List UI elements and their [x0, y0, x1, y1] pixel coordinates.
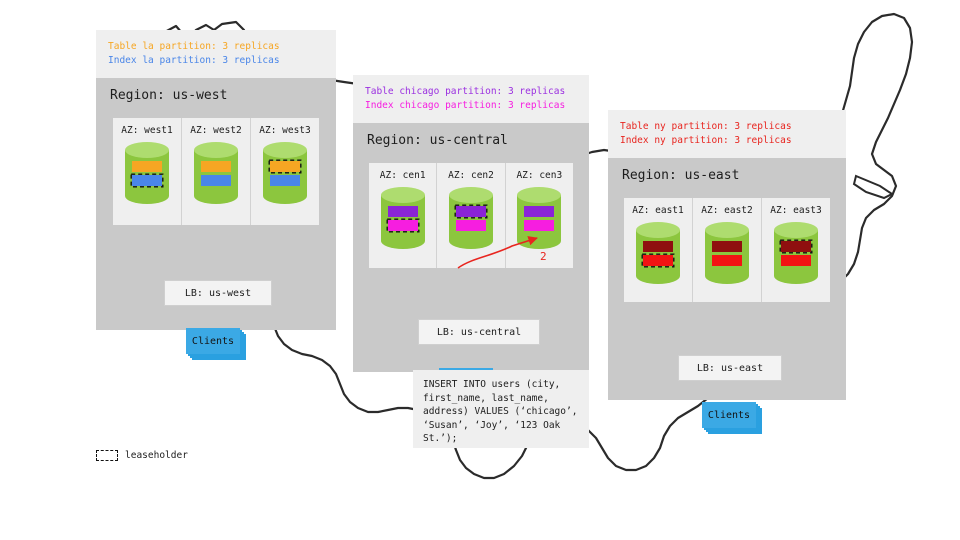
clients-label-us-west: Clients [186, 328, 240, 354]
region-title-us-central: Region: us-central [353, 123, 589, 148]
arrow-step-number-2: 2 [540, 250, 547, 263]
clients-label-us-east: Clients [702, 402, 756, 428]
sql-statement-text: INSERT INTO users (city, first_name, las… [423, 379, 577, 444]
az-cell-west3[interactable]: AZ: west3 [250, 118, 319, 225]
dashed-rectangle-icon [96, 450, 118, 461]
region-band-us-east: Region: us-east AZ: east1 [608, 158, 846, 400]
diagram-stage: Table la partition: 3 replicas Index la … [0, 0, 960, 540]
az-label-west1: AZ: west1 [121, 125, 172, 136]
leaseholder-legend: leaseholder [96, 450, 188, 461]
database-cylinder-east2[interactable] [702, 220, 752, 286]
database-cylinder-cen2[interactable] [446, 185, 496, 251]
sql-statement-box: INSERT INTO users (city, first_name, las… [413, 370, 589, 448]
lb-label-us-west: LB: us-west [185, 288, 251, 299]
az-cell-cen1[interactable]: AZ: cen1 [369, 163, 436, 268]
partition-legend-us-east: Table ny partition: 3 replicas Index ny … [608, 110, 846, 158]
database-cylinder-east3[interactable] [771, 220, 821, 286]
az-label-cen1: AZ: cen1 [380, 170, 426, 181]
az-label-cen2: AZ: cen2 [448, 170, 494, 181]
legend-line-table: Table chicago partition: 3 replicas [365, 85, 577, 99]
database-cylinder-cen3[interactable] [514, 185, 564, 251]
region-panel-us-central: Table chicago partition: 3 replicas Inde… [353, 75, 589, 372]
clients-button-us-west[interactable]: Clients [186, 328, 240, 354]
database-cylinder-west2[interactable] [191, 140, 241, 206]
database-cylinder-cen1[interactable] [378, 185, 428, 251]
az-cell-east1[interactable]: AZ: east1 [624, 198, 692, 302]
legend-line-index: Index ny partition: 3 replicas [620, 134, 834, 148]
az-label-cen3: AZ: cen3 [516, 170, 562, 181]
legend-line-table: Table ny partition: 3 replicas [620, 120, 834, 134]
region-panel-us-east: Table ny partition: 3 replicas Index ny … [608, 110, 846, 400]
clients-button-us-east[interactable]: Clients [702, 402, 756, 428]
az-label-east2: AZ: east2 [701, 205, 752, 216]
az-cell-east2[interactable]: AZ: east2 [692, 198, 761, 302]
legend-line-index: Index la partition: 3 replicas [108, 54, 324, 68]
az-label-east3: AZ: east3 [770, 205, 821, 216]
az-label-west2: AZ: west2 [190, 125, 241, 136]
region-panel-us-west: Table la partition: 3 replicas Index la … [96, 30, 336, 330]
load-balancer-us-west[interactable]: LB: us-west [164, 280, 272, 306]
lb-label-us-central: LB: us-central [437, 327, 521, 338]
load-balancer-us-central[interactable]: LB: us-central [418, 319, 540, 345]
az-cell-east3[interactable]: AZ: east3 [761, 198, 830, 302]
partition-legend-us-central: Table chicago partition: 3 replicas Inde… [353, 75, 589, 123]
database-cylinder-west3[interactable] [260, 140, 310, 206]
database-cylinder-east1[interactable] [633, 220, 683, 286]
partition-legend-us-west: Table la partition: 3 replicas Index la … [96, 30, 336, 78]
az-label-west3: AZ: west3 [259, 125, 310, 136]
leaseholder-legend-label: leaseholder [125, 450, 188, 461]
region-band-us-central: Region: us-central AZ: cen1 [353, 123, 589, 372]
az-cell-cen3[interactable]: AZ: cen3 [505, 163, 573, 268]
region-band-us-west: Region: us-west AZ: west1 [96, 78, 336, 330]
lb-label-us-east: LB: us-east [697, 363, 763, 374]
legend-line-table: Table la partition: 3 replicas [108, 40, 324, 54]
region-title-us-east: Region: us-east [608, 158, 846, 183]
database-cylinder-west1[interactable] [122, 140, 172, 206]
az-cell-west2[interactable]: AZ: west2 [181, 118, 250, 225]
az-cell-cen2[interactable]: AZ: cen2 [436, 163, 504, 268]
legend-line-index: Index chicago partition: 3 replicas [365, 99, 577, 113]
region-title-us-west: Region: us-west [96, 78, 336, 103]
az-strip-us-east: AZ: east1 AZ: east2 [624, 198, 830, 302]
az-strip-us-west: AZ: west1 AZ: west2 [113, 118, 319, 225]
load-balancer-us-east[interactable]: LB: us-east [678, 355, 782, 381]
az-label-east1: AZ: east1 [632, 205, 683, 216]
az-cell-west1[interactable]: AZ: west1 [113, 118, 181, 225]
